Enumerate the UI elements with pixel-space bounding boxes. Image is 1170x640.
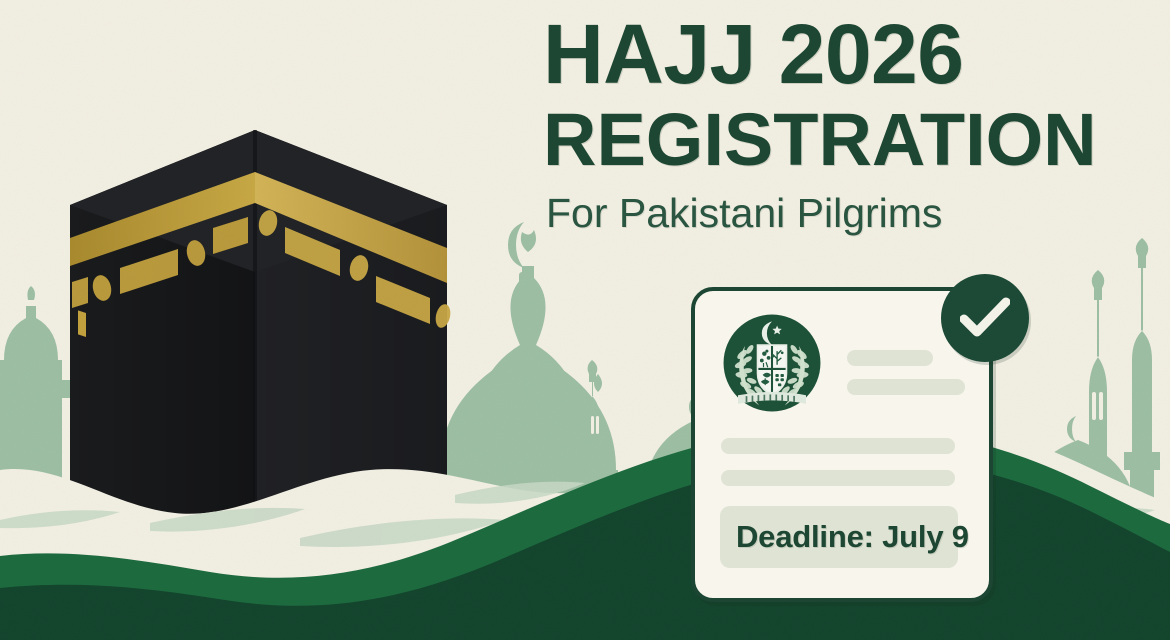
placeholder-line [721,438,955,454]
pakistan-emblem-icon [721,312,823,414]
page-tagline: For Pakistani Pilgrims [546,191,1143,236]
page-title: HAJJ 2026 [543,14,1143,95]
check-icon [960,297,1010,339]
headline-block: HAJJ 2026 REGISTRATION For Pakistani Pil… [543,14,1143,237]
hajj-registration-banner: HAJJ 2026 REGISTRATION For Pakistani Pil… [0,0,1170,640]
page-subtitle: REGISTRATION [543,103,1143,177]
placeholder-line [847,379,965,395]
deadline-label: Deadline: July 9 [736,519,969,555]
placeholder-line [721,470,955,486]
placeholder-line [847,350,933,366]
verified-badge [941,274,1029,362]
